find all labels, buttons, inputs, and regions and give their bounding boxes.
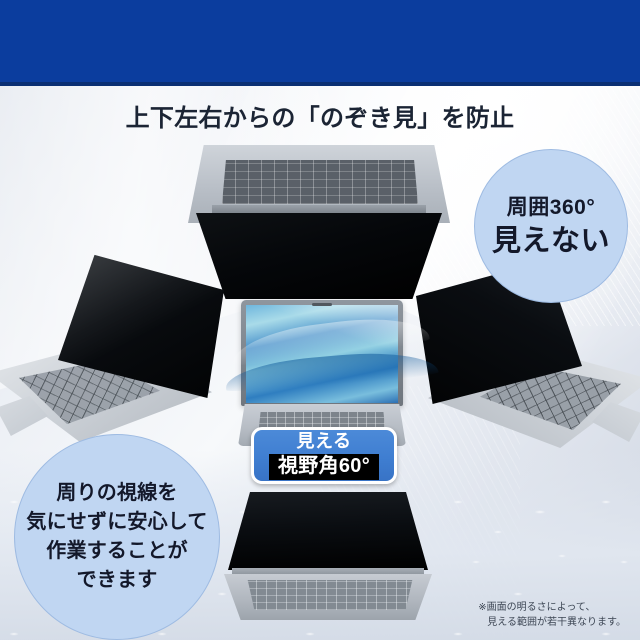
laptop-top-screen-blocked (196, 213, 442, 299)
footnote-line1: ※画面の明るさによって、 (478, 600, 626, 615)
laptop-top (188, 145, 450, 305)
advertisement-banner: のぞき見防止フィルター 上下左右からの「のぞき見」を防止 (0, 0, 640, 640)
callout-bubble-comfort: 周りの視線を 気にせずに安心して 作業することが できます (14, 434, 220, 640)
callout-comfort-line1: 周りの視線を (56, 479, 177, 508)
callout-comfort-line2: 気にせずに安心して (26, 508, 207, 537)
footnote-line2: 見える範囲が若干異なります。 (478, 615, 626, 630)
laptop-bottom-hinge (232, 568, 424, 575)
callout-360-line1: 周囲360° (507, 193, 595, 223)
laptop-bottom-screen-blocked (228, 492, 428, 570)
header-divider (0, 82, 640, 86)
callout-comfort-line4: できます (77, 566, 158, 595)
laptop-top-keyboard (222, 160, 418, 204)
laptop-left (0, 252, 224, 447)
webcam-notch-icon (312, 303, 332, 306)
header-band (0, 0, 640, 82)
laptop-top-hinge (212, 205, 426, 213)
callout-comfort-line3: 作業することが (46, 537, 187, 566)
laptop-center-bezel (241, 300, 403, 406)
callout-360-line2: 見えない (492, 223, 610, 259)
laptop-bottom (228, 492, 428, 624)
laptop-bottom-keyboard (246, 580, 414, 610)
callout-bubble-360: 周囲360° 見えない (474, 149, 628, 303)
badge-visible-label: 見える (297, 431, 352, 452)
badge-viewing-angle-value: 視野角60° (269, 454, 379, 480)
subtitle: 上下左右からの「のぞき見」を防止 (0, 98, 640, 133)
laptop-center-screen-visible (246, 305, 398, 403)
footnote: ※画面の明るさによって、 見える範囲が若干異なります。 (478, 600, 626, 630)
viewing-angle-badge: 見える 視野角60° (251, 427, 397, 484)
